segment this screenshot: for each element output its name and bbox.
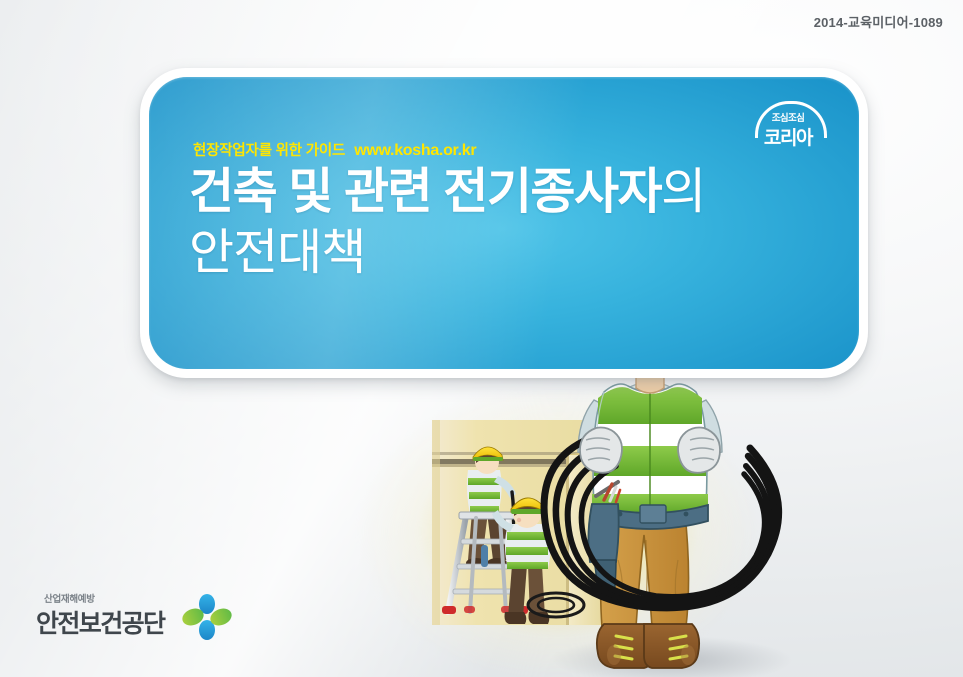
title-line-1-tail: 의 [661, 165, 705, 219]
kosha-name: 안전보건공단 [36, 604, 164, 640]
campaign-logo-large-text: 코리아 [751, 123, 825, 150]
title-panel: 현장작업자를 위한 가이드www.kosha.or.kr 건축 및 관련 전기종… [140, 68, 868, 378]
title-panel-inner: 현장작업자를 위한 가이드www.kosha.or.kr 건축 및 관련 전기종… [149, 77, 859, 369]
kosha-pinwheel-icon [182, 593, 232, 641]
page-title: 건축 및 관련 전기종사자의 안전대책 [189, 167, 829, 280]
poster-canvas: 2014-교육미디어-1089 [0, 0, 963, 677]
title-line-2: 안전대책 [189, 228, 829, 280]
right-glove [678, 428, 720, 473]
campaign-logo-small-text: 조심조심 [751, 110, 825, 124]
campaign-logo: 조심조심 코리아 [751, 101, 825, 151]
website-link[interactable]: www.kosha.or.kr [354, 142, 476, 159]
panel-kicker: 현장작업자를 위한 가이드www.kosha.or.kr [193, 139, 476, 160]
kosha-logo: 산업재해예방 안전보건공단 [36, 591, 236, 647]
kicker-text: 현장작업자를 위한 가이드 [193, 143, 345, 159]
title-line-1-bold: 건축 및 관련 전기종사자 [189, 165, 661, 219]
kosha-tagline: 산업재해예방 [44, 591, 95, 605]
left-glove [580, 428, 622, 473]
title-line-1: 건축 및 관련 전기종사자의 [189, 167, 829, 219]
